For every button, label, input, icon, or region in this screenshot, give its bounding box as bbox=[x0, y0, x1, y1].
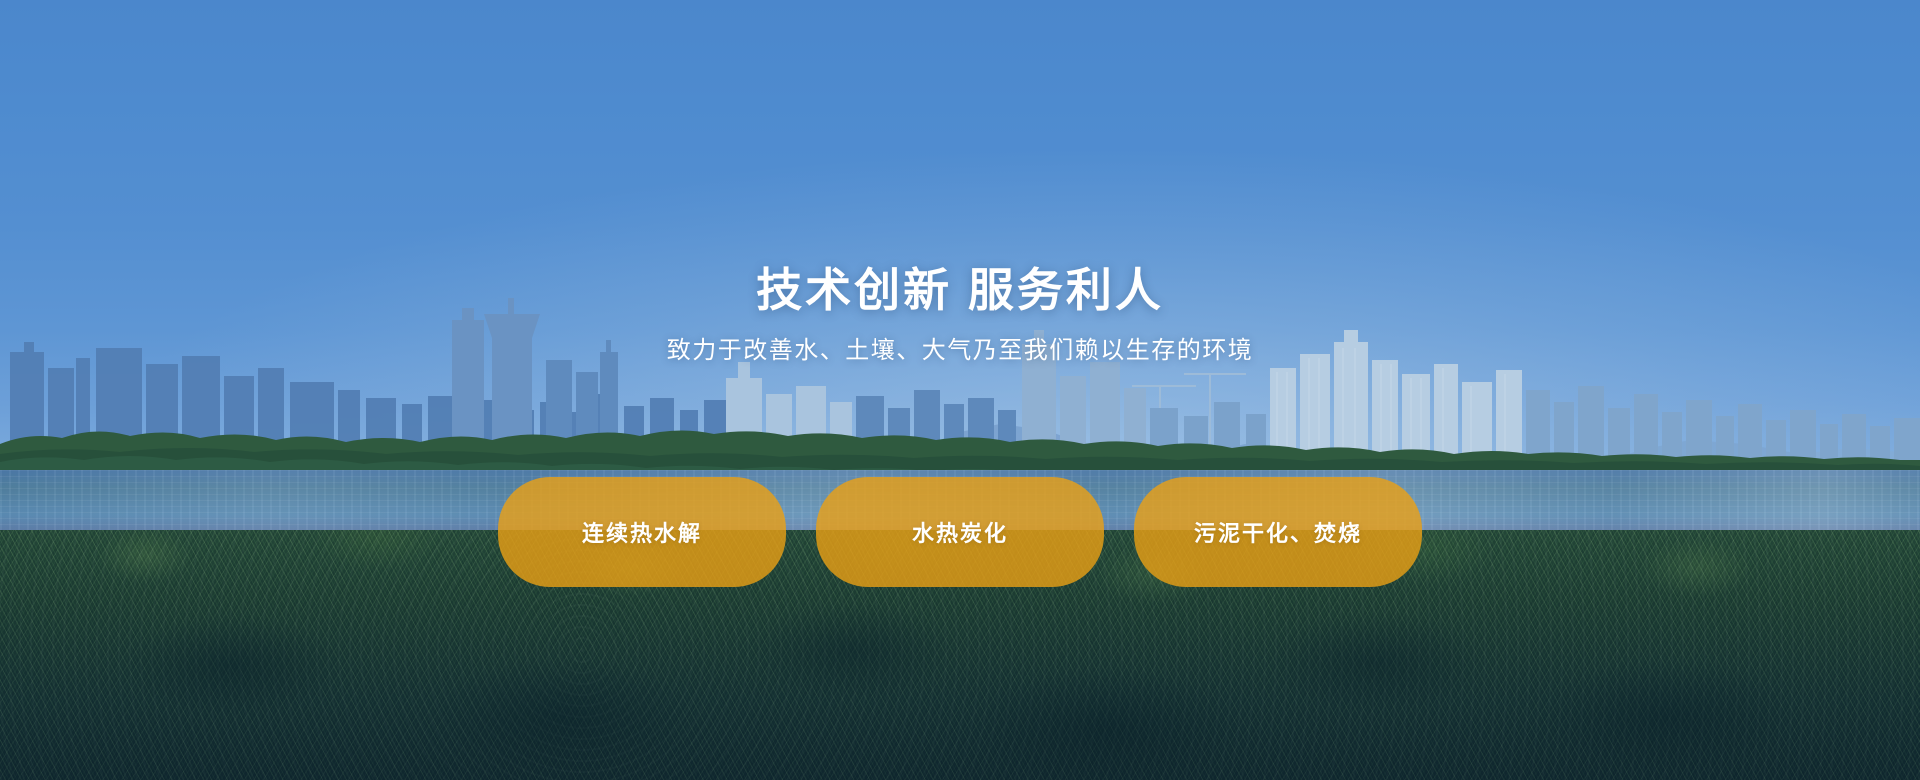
hero-banner: 技术创新 服务利人 致力于改善水、土壤、大气乃至我们赖以生存的环境 连续热水解 … bbox=[0, 0, 1920, 780]
page-title: 技术创新 服务利人 bbox=[0, 262, 1920, 320]
hero-text-block: 技术创新 服务利人 致力于改善水、土壤、大气乃至我们赖以生存的环境 bbox=[0, 262, 1920, 367]
page-subtitle: 致力于改善水、土壤、大气乃至我们赖以生存的环境 bbox=[0, 334, 1920, 368]
service-button-row: 连续热水解 水热炭化 污泥干化、焚烧 bbox=[0, 477, 1920, 587]
service-button-continuous-thermal-hydrolysis[interactable]: 连续热水解 bbox=[498, 477, 786, 587]
service-button-hydrothermal-carbonization[interactable]: 水热炭化 bbox=[816, 477, 1104, 587]
service-button-sludge-drying-incineration[interactable]: 污泥干化、焚烧 bbox=[1134, 477, 1422, 587]
